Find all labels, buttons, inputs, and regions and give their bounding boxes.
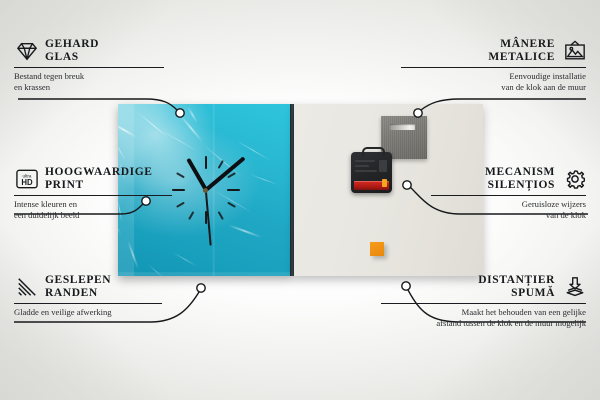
callout-rule: [401, 67, 586, 68]
hanger-slot: [390, 124, 415, 130]
callout-rule: [14, 303, 162, 304]
callout-title: HOOGWAARDIGE PRINT: [45, 166, 153, 192]
callout-gehard-glas[interactable]: GEHARD GLAS Bestand tegen breuk en krass…: [14, 38, 186, 93]
callout-manere-metalice[interactable]: MÂNERE METALICE Eenvoudige installatie v…: [401, 38, 586, 93]
callout-mecanism-silentios[interactable]: MECANISM SILENȚIOS Geruisloze wijzers va…: [431, 166, 586, 221]
callout-title: GEHARD GLAS: [45, 38, 99, 64]
clock-center-cap: [203, 188, 208, 193]
callout-description: Bestand tegen breuk en krassen: [14, 71, 186, 93]
clock-marker-tick: [205, 211, 207, 224]
callout-rule: [14, 67, 164, 68]
callout-title: MÂNERE METALICE: [488, 38, 555, 64]
battery: [354, 181, 389, 190]
callout-title-row: DISTANȚIER SPUMĂ: [381, 274, 586, 300]
mechanism-vent: [379, 160, 387, 172]
mechanism-vent: [355, 165, 369, 167]
callout-description: Eenvoudige installatie van de klok aan d…: [401, 71, 586, 93]
callout-rule: [14, 195, 172, 196]
mechanism-vent: [355, 170, 377, 172]
clock-mechanism: [351, 152, 392, 193]
battery-plus-terminal: [382, 179, 387, 187]
diagonal-lines-icon: [14, 276, 38, 298]
ultra-hd-bottom-text: HD: [21, 178, 33, 187]
callout-geslepen-randen[interactable]: GESLEPEN RANDEN Gladde en veilige afwerk…: [14, 274, 194, 318]
gear-icon: [562, 168, 586, 190]
mechanism-handle: [362, 147, 385, 156]
callout-hoogwaardige-print[interactable]: ultra HD HOOGWAARDIGE PRINT Intense kleu…: [14, 166, 194, 221]
foam-spacer: [370, 242, 384, 256]
callout-description: Gladde en veilige afwerking: [14, 307, 194, 318]
callout-description: Intense kleuren en een duidelijk beeld: [14, 199, 194, 221]
callout-description: Geruisloze wijzers van de klok: [431, 199, 586, 221]
mechanism-vent: [355, 160, 375, 162]
picture-frame-hanging-icon: [562, 40, 586, 62]
callout-title-row: GESLEPEN RANDEN: [14, 274, 194, 300]
callout-distantier-spuma[interactable]: DISTANȚIER SPUMĂ Maakt het behouden van …: [381, 274, 586, 329]
callout-rule: [431, 195, 586, 196]
callout-title: GESLEPEN RANDEN: [45, 274, 111, 300]
callout-title: MECANISM SILENȚIOS: [485, 166, 555, 192]
callout-title-row: MÂNERE METALICE: [401, 38, 586, 64]
infographic-canvas: GEHARD GLAS Bestand tegen breuk en krass…: [0, 0, 600, 400]
diamond-icon: [14, 40, 38, 62]
callout-title-row: MECANISM SILENȚIOS: [431, 166, 586, 192]
ultra-hd-icon: ultra HD: [14, 168, 38, 190]
callout-title-row: GEHARD GLAS: [14, 38, 186, 64]
callout-description: Maakt het behouden van een gelijke afsta…: [381, 307, 586, 329]
callout-title: DISTANȚIER SPUMĂ: [478, 274, 555, 300]
arrow-into-layers-icon: [562, 276, 586, 298]
callout-rule: [381, 303, 586, 304]
callout-title-row: ultra HD HOOGWAARDIGE PRINT: [14, 166, 194, 192]
